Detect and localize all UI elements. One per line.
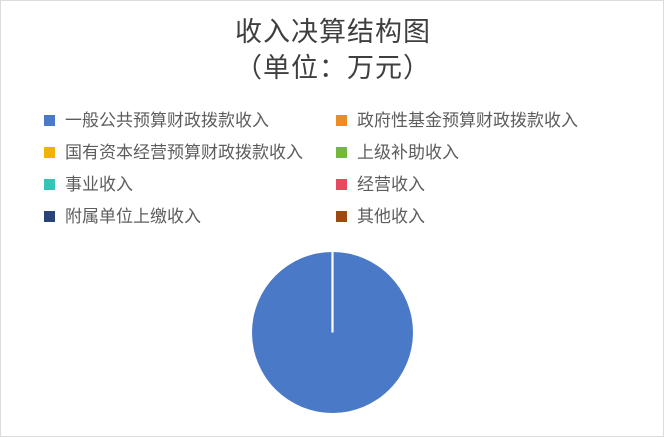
legend-swatch-icon	[44, 211, 55, 222]
legend-swatch-icon	[336, 179, 347, 190]
legend-swatch-icon	[336, 115, 347, 126]
legend-item[interactable]: 国有资本经营预算财政拨款收入	[44, 136, 303, 168]
legend-item[interactable]: 其他收入	[336, 200, 578, 232]
legend-item[interactable]: 上级补助收入	[336, 136, 578, 168]
legend-swatch-icon	[336, 211, 347, 222]
legend-item[interactable]: 附属单位上缴收入	[44, 200, 303, 232]
legend-column-right: 政府性基金预算财政拨款收入 上级补助收入 经营收入 其他收入	[336, 104, 578, 232]
chart-container: 收入决算结构图 （单位：万元） 一般公共预算财政拨款收入 国有资本经营预算财政拨…	[0, 0, 664, 437]
legend-item-label: 其他收入	[357, 207, 425, 226]
legend-item[interactable]: 政府性基金预算财政拨款收入	[336, 104, 578, 136]
legend-item-label: 附属单位上缴收入	[65, 207, 201, 226]
legend-swatch-icon	[336, 147, 347, 158]
legend-item-label: 国有资本经营预算财政拨款收入	[65, 143, 303, 162]
legend-item[interactable]: 一般公共预算财政拨款收入	[44, 104, 303, 136]
legend-swatch-icon	[44, 179, 55, 190]
legend-item[interactable]: 事业收入	[44, 168, 303, 200]
legend-item-label: 一般公共预算财政拨款收入	[65, 111, 269, 130]
pie-chart-svg[interactable]	[252, 252, 413, 413]
chart-subtitle: （单位：万元）	[1, 51, 664, 85]
chart-title: 收入决算结构图	[1, 15, 664, 49]
pie-chart	[252, 252, 413, 413]
legend-item-label: 上级补助收入	[357, 143, 459, 162]
legend-column-left: 一般公共预算财政拨款收入 国有资本经营预算财政拨款收入 事业收入 附属单位上缴收…	[44, 104, 303, 232]
legend-item-label: 经营收入	[357, 175, 425, 194]
legend-item-label: 事业收入	[65, 175, 133, 194]
legend-item-label: 政府性基金预算财政拨款收入	[357, 111, 578, 130]
legend-swatch-icon	[44, 147, 55, 158]
legend-swatch-icon	[44, 115, 55, 126]
chart-title-block: 收入决算结构图 （单位：万元）	[1, 15, 664, 85]
legend-item[interactable]: 经营收入	[336, 168, 578, 200]
